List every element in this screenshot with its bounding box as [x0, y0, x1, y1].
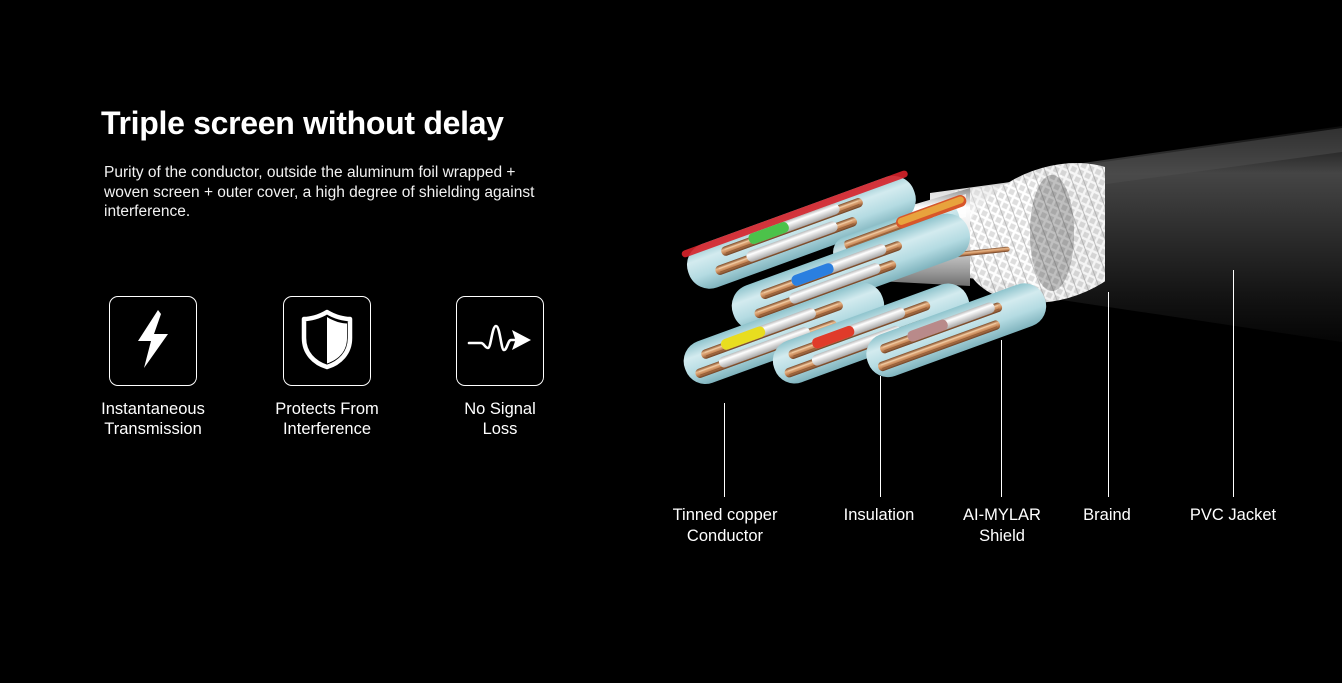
feature-icon-box [283, 296, 371, 386]
page-title: Triple screen without delay [101, 105, 504, 142]
feature-label-line2: Loss [483, 420, 518, 438]
lightning-bolt-icon [127, 308, 179, 375]
product-feature-panel: Triple screen without delay Purity of th… [0, 0, 1342, 683]
leader-line-pvc-jacket [1233, 270, 1234, 497]
signal-wave-icon [467, 316, 533, 367]
label-line1: Insulation [844, 506, 915, 524]
label-pvc-jacket: PVC Jacket [1138, 505, 1328, 526]
feature-label-line1: No Signal [464, 400, 536, 418]
feature-icon-box [109, 296, 197, 386]
label-line1: Tinned copper [673, 506, 778, 524]
label-line2: Shield [979, 527, 1025, 545]
leader-line-insulation [880, 376, 881, 497]
feature-label-line1: Protects From [275, 400, 379, 418]
leader-line-braind [1108, 292, 1109, 497]
shield-icon [299, 308, 355, 375]
feature-instantaneous-transmission: Instantaneous Transmission [73, 296, 233, 439]
feature-label-line2: Transmission [104, 420, 202, 438]
description-text: Purity of the conductor, outside the alu… [104, 163, 556, 222]
feature-no-signal-loss: No Signal Loss [420, 296, 580, 439]
feature-label-line1: Instantaneous [101, 400, 205, 418]
label-line2: Conductor [687, 527, 763, 545]
label-line1: Braind [1083, 506, 1131, 524]
feature-label: Protects From Interference [247, 399, 407, 439]
cable-cutaway-illustration [600, 90, 1342, 420]
feature-icon-box [456, 296, 544, 386]
leader-line-ai-mylar-shield [1001, 340, 1002, 497]
feature-label-line2: Interference [283, 420, 371, 438]
feature-protects-from-interference: Protects From Interference [247, 296, 407, 439]
label-line1: PVC Jacket [1190, 506, 1276, 524]
feature-label: Instantaneous Transmission [73, 399, 233, 439]
feature-label: No Signal Loss [420, 399, 580, 439]
leader-line-tinned-copper-conductor [724, 403, 725, 497]
